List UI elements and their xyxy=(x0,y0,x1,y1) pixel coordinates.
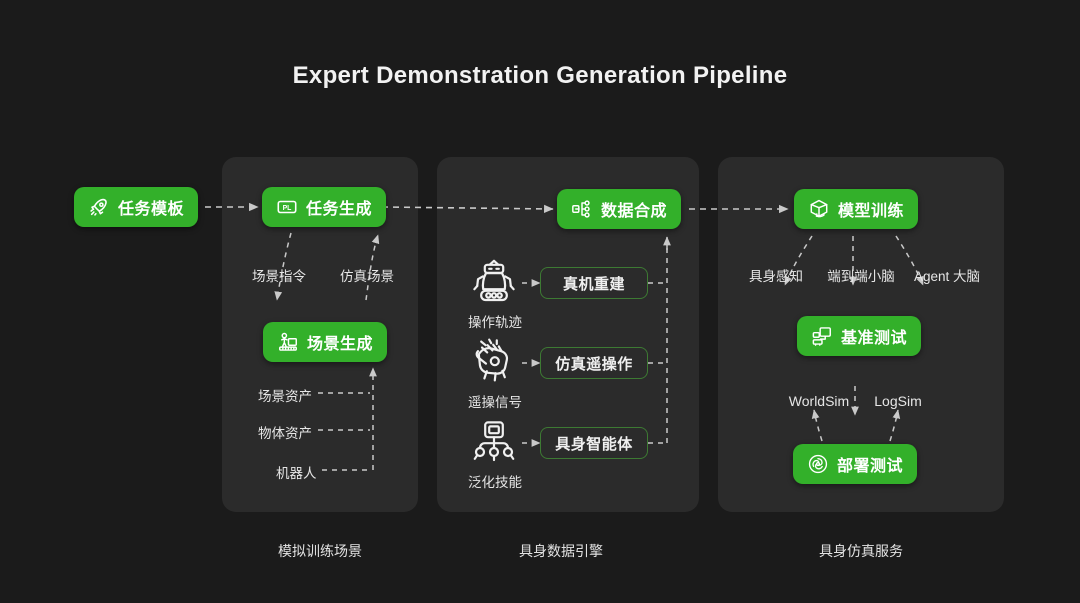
pl-frame-icon: PL xyxy=(276,196,298,218)
deploy-swirl-icon xyxy=(807,453,829,475)
label-scene-instruction: 场景指令 xyxy=(252,265,306,285)
data-synthesis-icon xyxy=(571,198,593,220)
label-object-assets: 物体资产 xyxy=(258,422,312,442)
box-embodied-agent[interactable]: 具身智能体 xyxy=(540,427,648,459)
pill-scene-generation[interactable]: 场景生成 xyxy=(263,322,387,362)
page-title: Expert Demonstration Generation Pipeline xyxy=(0,62,1080,90)
cube-training-icon xyxy=(808,198,830,220)
pill-label: 数据合成 xyxy=(601,197,667,221)
pill-task-generation[interactable]: PL 任务生成 xyxy=(262,187,386,227)
label-scene-assets: 场景资产 xyxy=(258,385,312,405)
agent-network-icon xyxy=(468,418,520,464)
caption-data-engine: 具身数据引擎 xyxy=(519,541,603,561)
caption-sim-service: 具身仿真服务 xyxy=(819,541,903,561)
box-real-machine-reconstruction[interactable]: 真机重建 xyxy=(540,267,648,299)
label-embodied-perception: 具身感知 xyxy=(749,265,803,285)
pill-deploy-test[interactable]: 部署测试 xyxy=(793,444,917,484)
label-robot: 机器人 xyxy=(276,462,317,482)
svg-text:PL: PL xyxy=(283,205,292,212)
robot-icon xyxy=(468,258,520,304)
pill-label: 部署测试 xyxy=(837,452,903,476)
pill-label: 场景生成 xyxy=(307,330,373,354)
pill-label: 任务模板 xyxy=(118,195,184,219)
box-label: 具身智能体 xyxy=(555,433,633,454)
pill-data-synthesis[interactable]: 数据合成 xyxy=(557,189,681,229)
box-label: 真机重建 xyxy=(563,273,625,294)
label-logsim: LogSim xyxy=(874,393,921,409)
box-sim-teleoperation[interactable]: 仿真遥操作 xyxy=(540,347,648,379)
label-generalization-skill: 泛化技能 xyxy=(468,471,522,491)
pill-task-template[interactable]: 任务模板 xyxy=(74,187,198,227)
pill-benchmark-test[interactable]: 基准测试 xyxy=(797,316,921,356)
pill-model-training[interactable]: 模型训练 xyxy=(794,189,918,229)
label-agent-brain: Agent 大脑 xyxy=(914,265,980,285)
label-teleop-signal: 遥操信号 xyxy=(468,391,522,411)
glove-icon xyxy=(468,338,520,384)
benchmark-icon xyxy=(811,325,833,347)
scene-generator-icon xyxy=(277,331,299,353)
box-label: 仿真遥操作 xyxy=(555,353,633,374)
pill-label: 基准测试 xyxy=(841,324,907,348)
label-operation-trajectory: 操作轨迹 xyxy=(468,311,522,331)
label-sim-scene: 仿真场景 xyxy=(340,265,394,285)
caption-sim-training: 模拟训练场景 xyxy=(278,541,362,561)
pill-label: 任务生成 xyxy=(306,195,372,219)
label-worldsim: WorldSim xyxy=(789,393,849,409)
rocket-icon xyxy=(88,196,110,218)
label-e2e-cerebellum: 端到端小脑 xyxy=(827,265,895,285)
pill-label: 模型训练 xyxy=(838,197,904,221)
